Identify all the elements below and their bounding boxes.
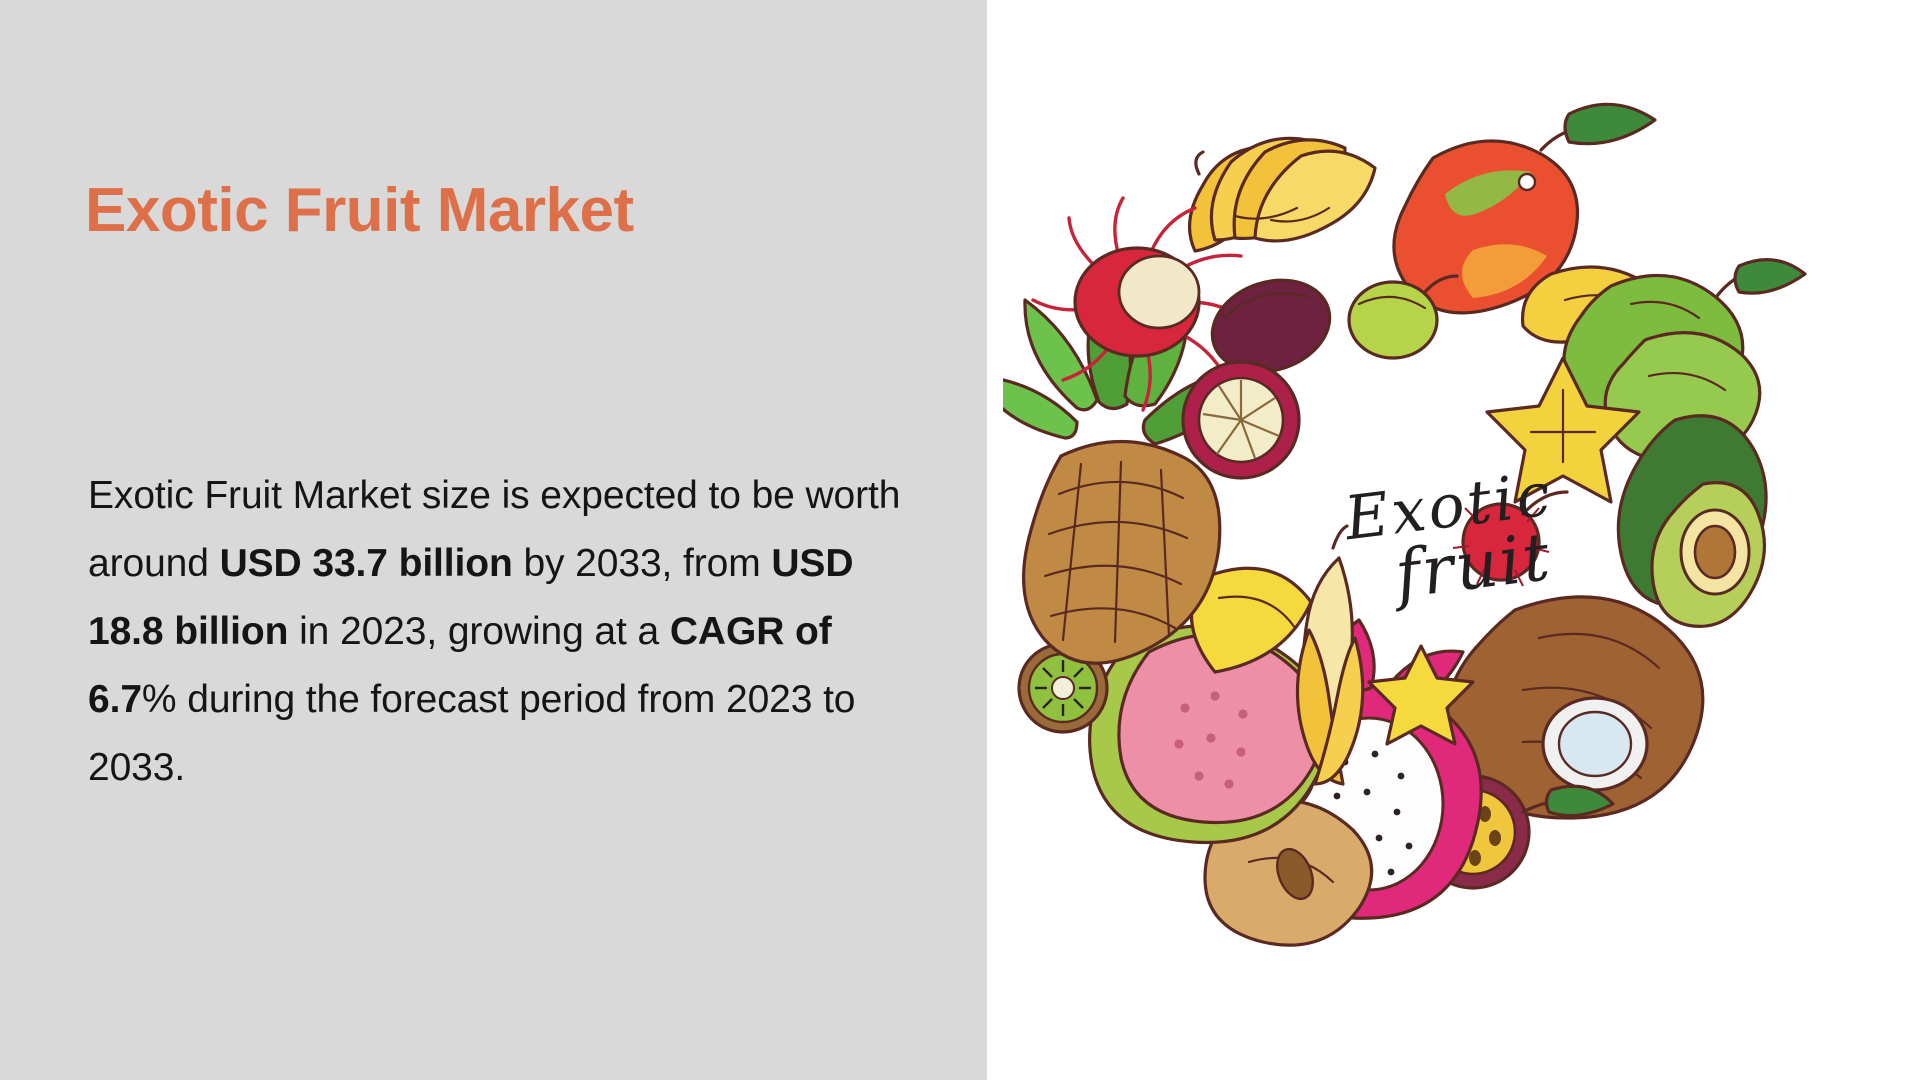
mangosteen-half-icon: [1183, 362, 1299, 478]
summary-segment-3: by 2033, from: [513, 542, 772, 585]
summary-segment-7: % during the forecast period from 2023 t…: [88, 678, 855, 789]
page-title: Exotic Fruit Market: [85, 178, 634, 243]
text-panel: Exotic Fruit Market Exotic Fruit Market …: [0, 0, 987, 1080]
summary-segment-2-bold: USD 33.7 billion: [220, 542, 513, 585]
banana-bunch-icon: [1190, 138, 1375, 251]
summary-segment-5: in 2023, growing at a: [288, 610, 669, 653]
lychee-icon: [1453, 492, 1567, 586]
illustration-panel: .ol { stroke:#5a2a22; stroke-width:3.2; …: [987, 0, 1920, 1080]
peeled-banana-icon: [1298, 526, 1363, 784]
market-summary-text: Exotic Fruit Market size is expected to …: [88, 462, 918, 802]
infographic-page: Exotic Fruit Market Exotic Fruit Market …: [0, 0, 1920, 1080]
exotic-fruit-wreath-illustration: .ol { stroke:#5a2a22; stroke-width:3.2; …: [1003, 90, 1903, 990]
